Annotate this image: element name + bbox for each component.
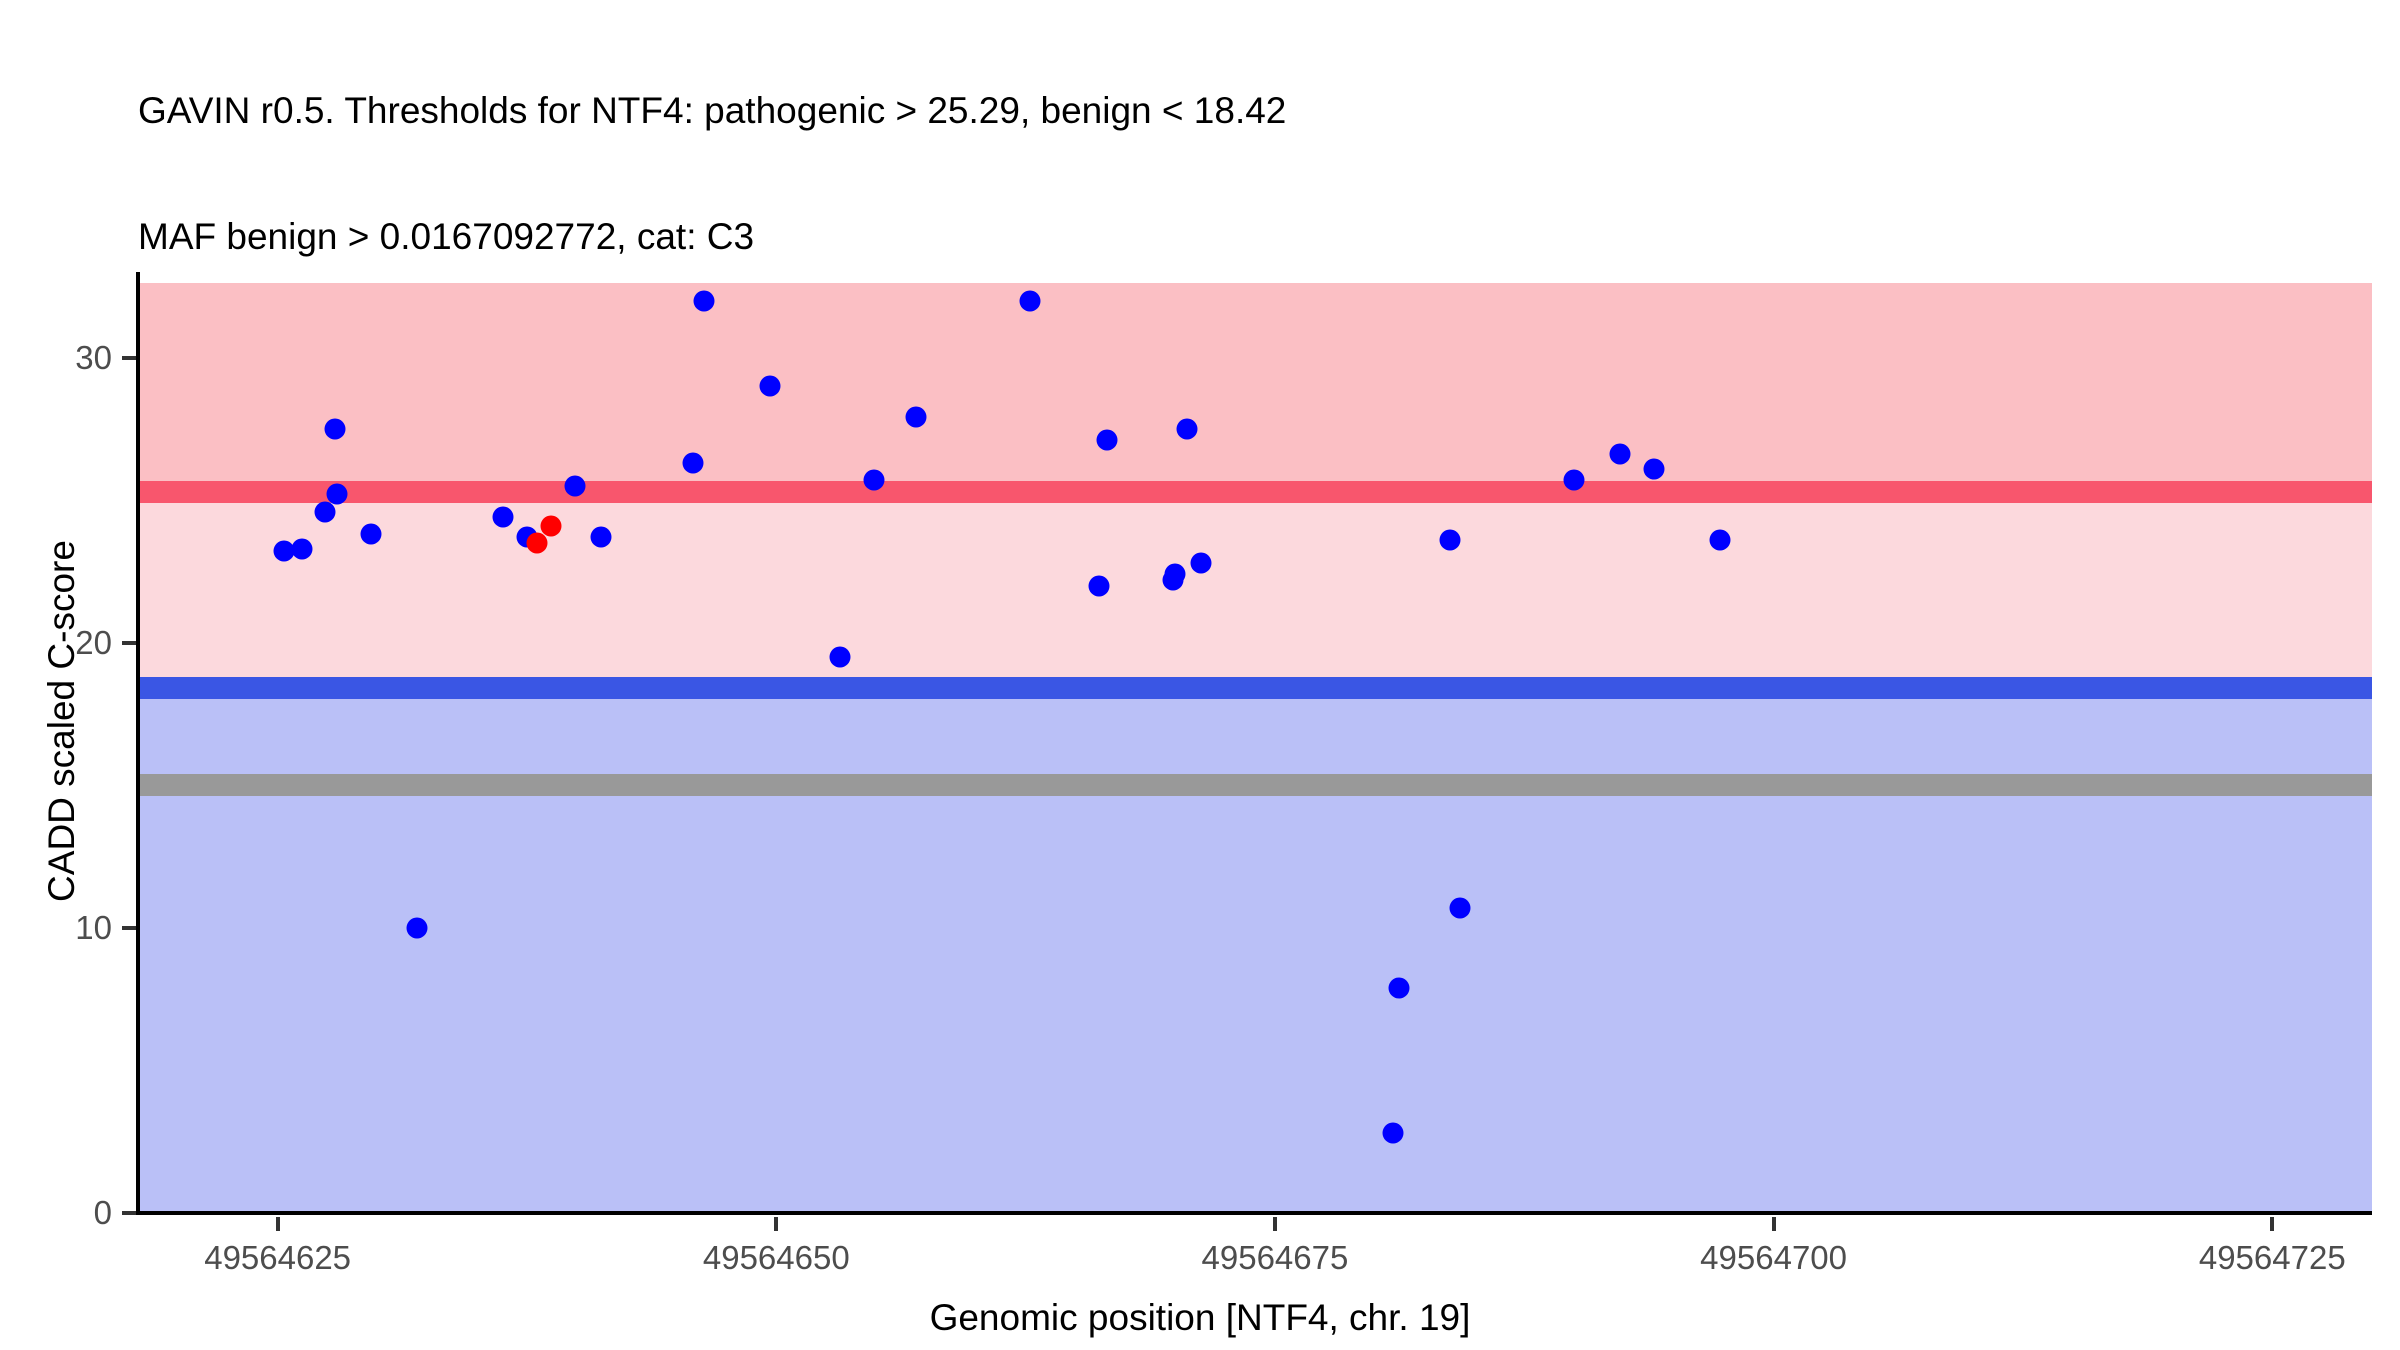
data-point	[864, 470, 885, 491]
title-line-1: GAVIN r0.5. Thresholds for NTF4: pathoge…	[138, 90, 2338, 132]
data-point	[1097, 430, 1118, 451]
data-point	[830, 646, 851, 667]
x-tick-mark	[1273, 1217, 1277, 1231]
data-point	[1643, 458, 1664, 479]
pathogenic-band	[138, 283, 2372, 491]
data-point	[1163, 569, 1184, 590]
y-axis-title: CADD scaled C-score	[41, 321, 83, 1121]
data-point	[1177, 418, 1198, 439]
data-point	[1191, 552, 1212, 573]
benign-band	[138, 688, 2372, 1213]
y-axis-line	[136, 272, 140, 1213]
vous-band	[138, 492, 2372, 688]
data-point	[540, 515, 561, 536]
plot-panel	[138, 272, 2372, 1213]
data-point	[564, 475, 585, 496]
x-axis-line	[136, 1211, 2372, 1215]
x-tick-mark	[774, 1217, 778, 1231]
data-point	[493, 507, 514, 528]
threshold-line-pathogenic	[138, 481, 2372, 503]
data-point	[407, 917, 428, 938]
threshold-line-genome-wide-fallback	[138, 774, 2372, 796]
data-point	[1388, 977, 1409, 998]
data-point	[1089, 575, 1110, 596]
data-point	[590, 527, 611, 548]
data-point	[905, 407, 926, 428]
data-point	[1440, 530, 1461, 551]
data-point	[1564, 470, 1585, 491]
data-point	[760, 376, 781, 397]
data-point	[1450, 897, 1471, 918]
x-tick-label: 49564725	[2199, 1239, 2346, 1277]
data-point	[361, 524, 382, 545]
x-tick-label: 49564650	[703, 1239, 850, 1277]
data-point	[291, 538, 312, 559]
data-point	[1610, 444, 1631, 465]
threshold-line-benign	[138, 677, 2372, 699]
x-axis-title: Genomic position [NTF4, chr. 19]	[0, 1297, 2400, 1339]
data-point	[327, 484, 348, 505]
y-tick-mark	[122, 641, 136, 645]
title-line-2: MAF benign > 0.0167092772, cat: C3	[138, 216, 2338, 258]
data-point	[325, 418, 346, 439]
y-tick-mark	[122, 926, 136, 930]
y-tick-mark	[122, 356, 136, 360]
data-point	[1709, 530, 1730, 551]
data-point	[526, 532, 547, 553]
y-tick-mark	[122, 1211, 136, 1215]
x-tick-label: 49564675	[1202, 1239, 1349, 1277]
data-point	[1382, 1123, 1403, 1144]
x-tick-label: 49564700	[1700, 1239, 1847, 1277]
x-tick-mark	[1772, 1217, 1776, 1231]
data-point	[694, 290, 715, 311]
x-tick-label: 49564625	[204, 1239, 351, 1277]
x-tick-mark	[276, 1217, 280, 1231]
x-tick-mark	[2270, 1217, 2274, 1231]
data-point	[682, 453, 703, 474]
data-point	[1019, 290, 1040, 311]
y-tick-label: 0	[8, 1194, 112, 1232]
